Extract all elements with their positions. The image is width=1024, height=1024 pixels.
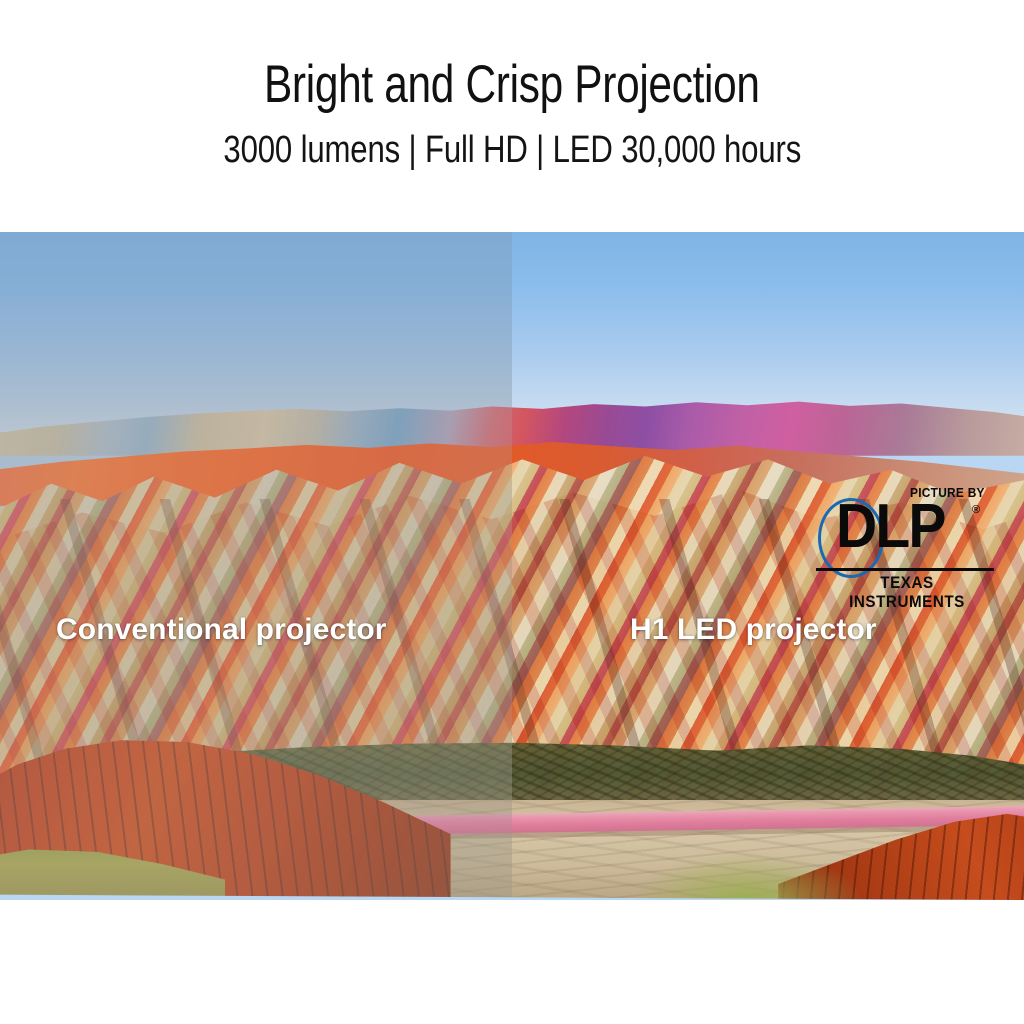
foreground-right-vegetation	[635, 853, 860, 900]
conventional-desaturate-overlay	[0, 232, 512, 900]
texas-instruments-label: TEXAS INSTRUMENTS	[825, 574, 989, 612]
dlp-divider-rule	[816, 568, 994, 571]
caption-conventional-projector: Conventional projector	[56, 613, 387, 647]
registered-trademark-icon: ®	[972, 504, 980, 516]
header-text-block: Bright and Crisp Projection 3000 lumens …	[0, 0, 1024, 232]
comparison-photo: Conventional projector H1 LED projector …	[0, 232, 1024, 900]
spec-subtitle: 3000 lumens | Full HD | LED 30,000 hours	[223, 131, 801, 169]
dlp-logo: PICTURE BY DLP ® TEXAS INSTRUMENTS	[812, 482, 998, 598]
page-title: Bright and Crisp Projection	[264, 58, 760, 111]
dlp-wordmark: DLP	[836, 496, 945, 558]
caption-h1-led-projector: H1 LED projector	[630, 613, 877, 647]
